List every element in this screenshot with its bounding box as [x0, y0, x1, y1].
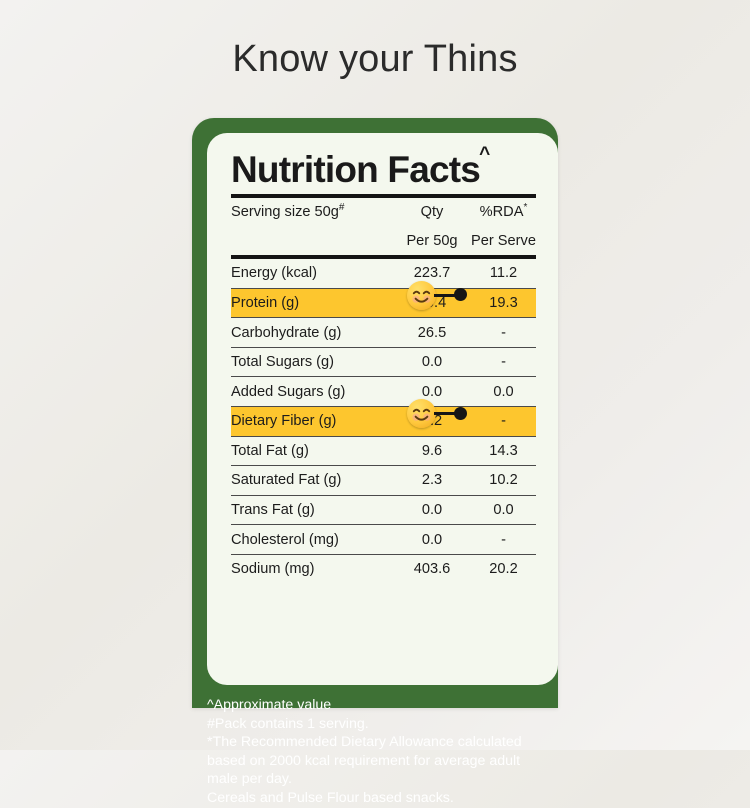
- nutrient-qty: 9.6: [393, 436, 471, 465]
- table-row: Cholesterol (mg)0.0-: [231, 525, 536, 554]
- nutrition-facts-panel: Nutrition Facts^ Serving size 50g# Qty %…: [207, 133, 558, 685]
- table-row: Trans Fat (g)0.00.0: [231, 495, 536, 524]
- nutrition-facts-heading-superscript: ^: [479, 144, 489, 165]
- table-header-row-second: Per 50g Per Serve: [231, 226, 536, 255]
- nutrition-facts-table: Serving size 50g# Qty %RDA* Per 50g Per …: [231, 198, 536, 255]
- table-row: Sodium (mg)403.620.2: [231, 554, 536, 583]
- smiling-face-emoji-icon: [407, 281, 436, 310]
- table-row: Dietary Fiber (g) 5.2-: [231, 407, 536, 436]
- nutrition-facts-heading-text: Nutrition Facts: [231, 149, 480, 190]
- nutrient-name: Total Fat (g): [231, 436, 393, 465]
- table-row: Added Sugars (g)0.00.0: [231, 377, 536, 406]
- nutrient-name: Energy (kcal): [231, 259, 393, 288]
- rda-header-line1: %RDA*: [471, 198, 536, 227]
- nutrient-rda: 20.2: [471, 554, 536, 583]
- table-row: Carbohydrate (g)26.5-: [231, 318, 536, 347]
- serving-size-cell: Serving size 50g#: [231, 198, 393, 227]
- serving-size-superscript: #: [339, 202, 345, 213]
- footnote-approximate: ^Approximate value: [207, 696, 547, 715]
- nutrient-qty: 0.0: [393, 525, 471, 554]
- nutrition-rows-body: Energy (kcal)223.711.2Protein (g) 10.419…: [231, 259, 536, 584]
- table-row: Energy (kcal)223.711.2: [231, 259, 536, 288]
- nutrient-name: Cholesterol (mg): [231, 525, 393, 554]
- nutrient-rda: 11.2: [471, 259, 536, 288]
- nutrient-name: Dietary Fiber (g): [231, 407, 393, 436]
- marker-dot-icon: [454, 407, 467, 420]
- table-row: Saturated Fat (g)2.310.2: [231, 466, 536, 495]
- nutrient-rda: 14.3: [471, 436, 536, 465]
- nutrient-name: Total Sugars (g): [231, 347, 393, 376]
- nutrient-rda: 0.0: [471, 495, 536, 524]
- nutrition-rows-table: Energy (kcal)223.711.2Protein (g) 10.419…: [231, 259, 536, 584]
- nutrient-qty: 2.3: [393, 466, 471, 495]
- nutrition-facts-table-body: Serving size 50g# Qty %RDA* Per 50g Per …: [231, 198, 536, 255]
- table-header-row: Serving size 50g# Qty %RDA*: [231, 198, 536, 227]
- nutrient-name: Trans Fat (g): [231, 495, 393, 524]
- footnote-rda-basis: *The Recommended Dietary Allowance calcu…: [207, 733, 547, 789]
- qty-header-line2: Per 50g: [393, 226, 471, 255]
- nutrient-name: Protein (g): [231, 288, 393, 317]
- rda-header-superscript: *: [523, 202, 527, 213]
- nutrient-rda: -: [471, 525, 536, 554]
- table-row: Total Sugars (g)0.0-: [231, 347, 536, 376]
- nutrient-rda: 10.2: [471, 466, 536, 495]
- nutrient-rda: -: [471, 407, 536, 436]
- footnote-pack-servings: #Pack contains 1 serving.: [207, 715, 547, 734]
- nutrient-rda: -: [471, 347, 536, 376]
- nutrient-qty: 0.0: [393, 495, 471, 524]
- nutrition-label-card: Nutrition Facts^ Serving size 50g# Qty %…: [192, 118, 558, 708]
- table-row: Protein (g) 10.419.3: [231, 288, 536, 317]
- serving-size-text: Serving size 50g: [231, 204, 339, 220]
- footnotes-block: ^Approximate value #Pack contains 1 serv…: [207, 696, 547, 808]
- nutrient-name: Carbohydrate (g): [231, 318, 393, 347]
- nutrient-rda: 0.0: [471, 377, 536, 406]
- nutrient-name: Saturated Fat (g): [231, 466, 393, 495]
- page-title: Know your Thins: [0, 40, 750, 78]
- smiling-face-emoji-icon: [407, 399, 436, 428]
- qty-header-line1: Qty: [393, 198, 471, 227]
- table-row: Total Fat (g)9.614.3: [231, 436, 536, 465]
- nutrition-facts-heading: Nutrition Facts^: [231, 151, 490, 190]
- header-spacer-cell: [231, 226, 393, 255]
- nutrient-rda: 19.3: [471, 288, 536, 317]
- nutrient-qty: 26.5: [393, 318, 471, 347]
- nutrient-qty: 403.6: [393, 554, 471, 583]
- nutrient-qty: 0.0: [393, 347, 471, 376]
- rda-header-text: %RDA: [480, 204, 524, 220]
- nutrient-name: Sodium (mg): [231, 554, 393, 583]
- rda-header-line2: Per Serve: [471, 226, 536, 255]
- nutrient-name: Added Sugars (g): [231, 377, 393, 406]
- nutrient-rda: -: [471, 318, 536, 347]
- footnote-product-type: Cereals and Pulse Flour based snacks.: [207, 789, 547, 808]
